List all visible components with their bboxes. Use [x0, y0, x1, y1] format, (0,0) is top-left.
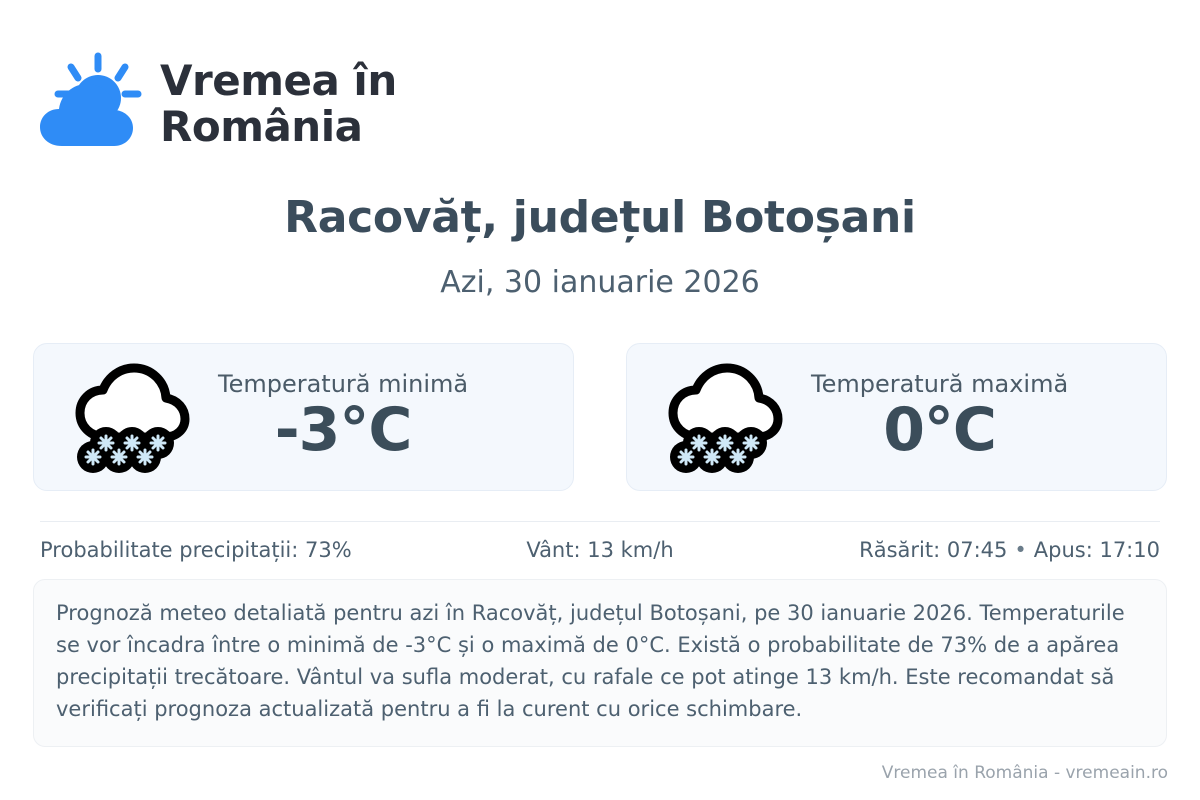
min-temperature-card: Temperatură minimă -3°C	[33, 343, 574, 491]
sun-times-separator: •	[1007, 538, 1033, 562]
snow-cloud-icon	[665, 361, 785, 473]
sun-behind-cloud-icon	[36, 50, 144, 158]
min-temperature-value: -3°C	[275, 399, 412, 462]
footer-credit: Vremea în România - vremeain.ro	[0, 763, 1168, 783]
min-temperature-body: Temperatură minimă -3°C	[218, 369, 468, 466]
max-temperature-card: Temperatură maximă 0°C	[626, 343, 1167, 491]
stats-divider	[40, 521, 1160, 522]
page-subtitle: Azi, 30 ianuarie 2026	[0, 265, 1200, 300]
weather-page: Vremea în România Racovăț, județul Botoș…	[0, 0, 1200, 800]
min-temperature-label: Temperatură minimă	[218, 369, 468, 399]
forecast-description: Prognoză meteo detaliată pentru azi în R…	[33, 579, 1167, 747]
max-temperature-body: Temperatură maximă 0°C	[811, 369, 1068, 466]
sunset-value: Apus: 17:10	[1034, 538, 1160, 562]
sunrise-value: Răsărit: 07:45	[859, 538, 1007, 562]
site-title: Vremea în România	[160, 58, 397, 150]
sun-times-stat: Răsărit: 07:45•Apus: 17:10	[787, 538, 1160, 562]
stats-row: Probabilitate precipitații: 73% Vânt: 13…	[40, 538, 1160, 562]
site-header: Vremea în România	[36, 50, 397, 158]
wind-stat: Vânt: 13 km/h	[413, 538, 786, 562]
temperature-cards: Temperatură minimă -3°C	[33, 343, 1167, 491]
max-temperature-value: 0°C	[883, 399, 996, 462]
precipitation-stat: Probabilitate precipitații: 73%	[40, 538, 413, 562]
max-temperature-label: Temperatură maximă	[811, 369, 1068, 399]
snow-cloud-icon	[72, 361, 192, 473]
page-title: Racovăț, județul Botoșani	[0, 192, 1200, 243]
